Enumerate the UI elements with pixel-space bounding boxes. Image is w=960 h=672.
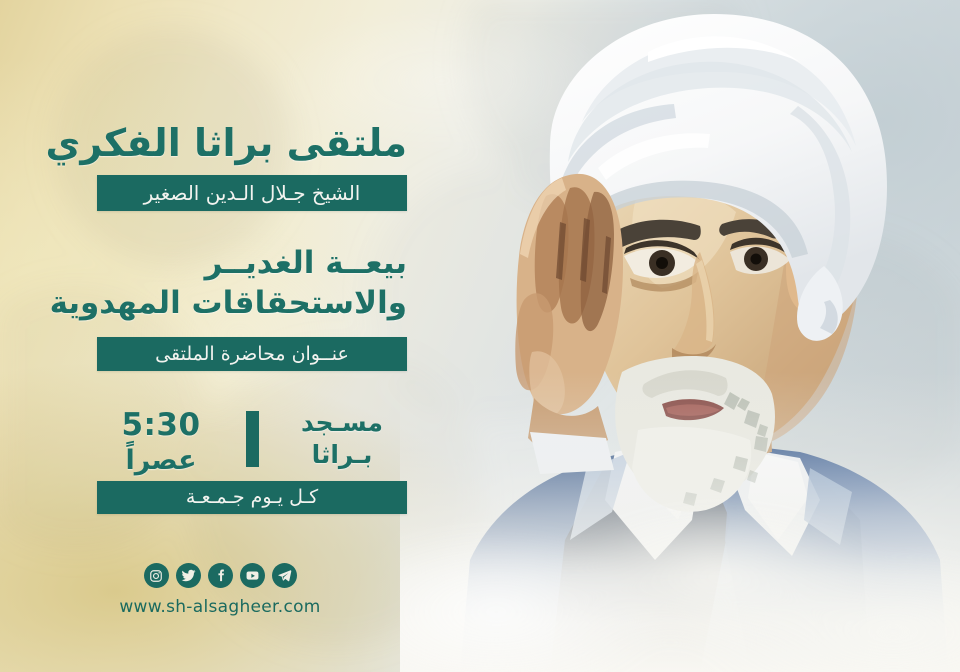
lecture-title-line-2: والاستحقاقات المهدوية: [37, 284, 407, 324]
time-period: عصراً: [97, 445, 225, 478]
lecture-title-line-1: بيعــة الغديــر: [37, 244, 407, 284]
website-url[interactable]: www.sh-alsagheer.com: [0, 597, 440, 617]
text-column: ملتقى براثا الفكري الشيخ جـلال الـدين ال…: [0, 0, 440, 672]
portrait-photo: [400, 0, 960, 672]
poster-canvas: ملتقى براثا الفكري الشيخ جـلال الـدين ال…: [0, 0, 960, 672]
telegram-icon[interactable]: [272, 563, 297, 588]
venue: مسـجد بـراثا: [277, 407, 407, 471]
lecture-subtitle-badge: عنــوان محاضرة الملتقى: [97, 337, 407, 371]
venue-line-2: بـراثا: [277, 439, 407, 471]
event-title: ملتقى براثا الفكري: [37, 124, 407, 162]
lecture-title: بيعــة الغديــر والاستحقاقات المهدوية: [37, 244, 407, 323]
twitter-icon[interactable]: [176, 563, 201, 588]
event-details-row: مسـجد بـراثا 5:30 عصراً: [97, 407, 407, 473]
social-links: [0, 563, 440, 588]
event-time: 5:30 عصراً: [97, 407, 225, 478]
recurrence-badge: كـل يـوم جـمـعـة: [97, 481, 407, 514]
facebook-icon[interactable]: [208, 563, 233, 588]
youtube-icon[interactable]: [240, 563, 265, 588]
venue-line-1: مسـجد: [277, 407, 407, 439]
instagram-icon[interactable]: [144, 563, 169, 588]
speaker-name-badge: الشيخ جـلال الـدين الصغير: [97, 175, 407, 211]
vertical-divider: [246, 411, 259, 467]
time-value: 5:30: [97, 407, 225, 445]
